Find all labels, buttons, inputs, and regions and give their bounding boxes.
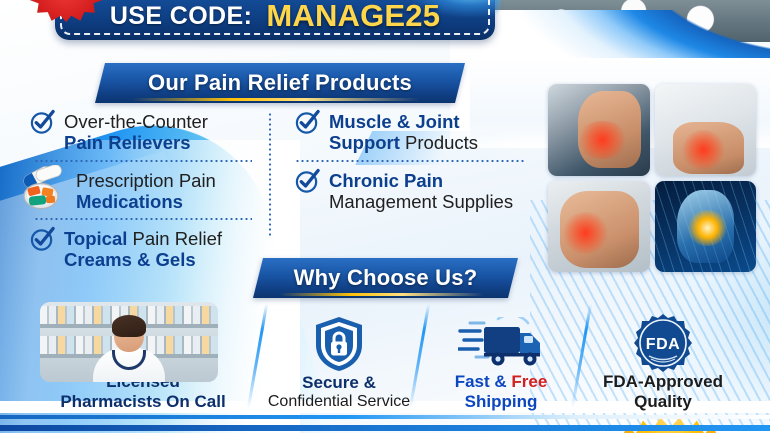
neck-pain-glow <box>576 121 629 159</box>
fda-line1: FDA-Approved <box>603 372 723 392</box>
shipping-free-label: Free <box>511 372 547 391</box>
product-line1-topical: Topical Pain Relief <box>64 228 222 249</box>
svg-text:FDA: FDA <box>646 336 680 353</box>
product-text-otc: Over-the-Counter Pain Relievers <box>64 110 208 154</box>
product-line1-otc: Over-the-Counter <box>64 111 208 132</box>
topical-line1-bold: Topical <box>64 228 127 249</box>
secure-line2: Confidential Service <box>268 393 410 412</box>
topical-line1-reg: Pain Relief <box>127 228 222 249</box>
product-separator-2 <box>34 218 252 220</box>
pharmacist-hair <box>112 315 146 337</box>
product-line2-topical: Creams & Gels <box>64 249 222 270</box>
chronic-line1: Chronic Pain <box>329 170 443 191</box>
muscle-line2-reg: Products <box>400 132 478 153</box>
check-circle-icon <box>295 110 320 135</box>
check-circle-icon <box>30 110 55 135</box>
products-banner-label: Our Pain Relief Products <box>148 70 412 96</box>
why-title-fda: FDA-Approved Quality <box>603 372 723 412</box>
why-card-fda[interactable]: FDA FDA-Approved Quality <box>582 298 744 420</box>
product-column-divider <box>269 112 271 237</box>
product-separator-3 <box>295 160 525 162</box>
product-item-otc[interactable]: Over-the-Counter Pain Relievers <box>30 110 252 154</box>
product-item-muscle-joint[interactable]: Muscle & Joint Support Products <box>295 110 545 154</box>
pills-icon <box>19 165 67 210</box>
fda-line2: Quality <box>603 392 723 412</box>
product-line1-muscle-joint: Muscle & Joint <box>329 111 478 132</box>
check-circle-icon <box>295 169 320 194</box>
product-line1-chronic: Chronic Pain <box>329 170 513 191</box>
knee-xray-photo <box>655 181 757 273</box>
why-banner-label: Why Choose Us? <box>294 265 478 291</box>
product-line2-prescription: Medications <box>76 191 216 212</box>
bottom-bar-dark <box>0 425 770 431</box>
product-column-left: Over-the-Counter Pain Relievers <box>30 110 252 271</box>
otc-line1: Over-the-Counter <box>64 111 208 132</box>
why-card-secure[interactable]: Secure & Confidential Service <box>258 298 420 420</box>
fda-seal-icon: FDA <box>633 314 693 372</box>
shield-lock-icon <box>313 315 365 373</box>
prescription-line2: Medications <box>76 191 183 212</box>
product-separator-1 <box>34 160 252 162</box>
shipping-line2: Shipping <box>455 392 548 412</box>
coupon-label: USE CODE: <box>110 2 253 31</box>
shipping-line1: Fast & Free <box>455 372 548 392</box>
back-pain-glow <box>681 130 726 170</box>
why-section-banner: Why Choose Us? <box>253 258 518 298</box>
chronic-line2: Management Supplies <box>329 191 513 212</box>
pharmacist-photo <box>40 302 218 382</box>
product-line2-otc: Pain Relievers <box>64 132 208 153</box>
back-pain-photo <box>655 84 757 176</box>
promo-graphic: USE CODE: MANAGE25 Our Pain Relief Produ… <box>0 0 770 433</box>
why-choose-us-row: Licensed Pharmacists On Call Secure & Co… <box>28 298 744 420</box>
products-banner-inner: Our Pain Relief Products <box>100 63 460 103</box>
coupon-text-row: USE CODE: MANAGE25 <box>55 0 495 40</box>
why-banner-inner: Why Choose Us? <box>258 258 513 298</box>
product-text-chronic-pain: Chronic Pain Management Supplies <box>329 169 513 213</box>
prescription-line1: Prescription Pain <box>76 170 216 191</box>
product-line2-chronic: Management Supplies <box>329 191 513 212</box>
product-text-muscle-joint: Muscle & Joint Support Products <box>329 110 478 154</box>
shipping-fast-label: Fast & <box>455 372 507 391</box>
product-column-right: Muscle & Joint Support Products Chronic … <box>295 110 545 212</box>
pharmacist-figure <box>92 318 166 382</box>
muscle-line1: Muscle & Joint <box>329 111 460 132</box>
product-item-topical[interactable]: Topical Pain Relief Creams & Gels <box>30 227 252 271</box>
product-line1-prescription: Prescription Pain <box>76 170 216 191</box>
why-title-secure: Secure & Confidential Service <box>268 373 410 412</box>
product-item-prescription[interactable]: Prescription Pain Medications <box>30 169 252 213</box>
products-section-banner: Our Pain Relief Products <box>95 63 465 103</box>
coupon-banner[interactable]: USE CODE: MANAGE25 <box>55 0 495 40</box>
delivery-truck-icon <box>458 314 544 372</box>
product-text-prescription: Prescription Pain Medications <box>76 169 216 213</box>
topical-line2: Creams & Gels <box>64 249 196 270</box>
pharmacists-line2: Pharmacists On Call <box>60 392 225 412</box>
pain-photo-grid <box>548 84 756 272</box>
why-banner-underline <box>279 293 483 296</box>
why-title-shipping: Fast & Free Shipping <box>455 372 548 412</box>
why-card-shipping[interactable]: Fast & Free Shipping <box>420 298 582 420</box>
muscle-line2-bold: Support <box>329 132 400 153</box>
neck-pain-photo <box>548 84 650 176</box>
check-circle-icon <box>30 227 55 252</box>
coupon-shine <box>351 0 501 18</box>
secure-line1: Secure & <box>268 373 410 393</box>
xray-glow <box>687 210 728 247</box>
product-item-chronic-pain[interactable]: Chronic Pain Management Supplies <box>295 169 545 213</box>
product-text-topical: Topical Pain Relief Creams & Gels <box>64 227 222 271</box>
otc-line2: Pain Relievers <box>64 132 191 153</box>
knee-pain-glow <box>562 212 609 254</box>
coupon-code: MANAGE25 <box>266 0 440 34</box>
knee-pain-photo <box>548 181 650 273</box>
product-line2-muscle-joint: Support Products <box>329 132 478 153</box>
why-card-pharmacists[interactable]: Licensed Pharmacists On Call <box>28 298 258 420</box>
products-banner-underline <box>132 98 420 101</box>
